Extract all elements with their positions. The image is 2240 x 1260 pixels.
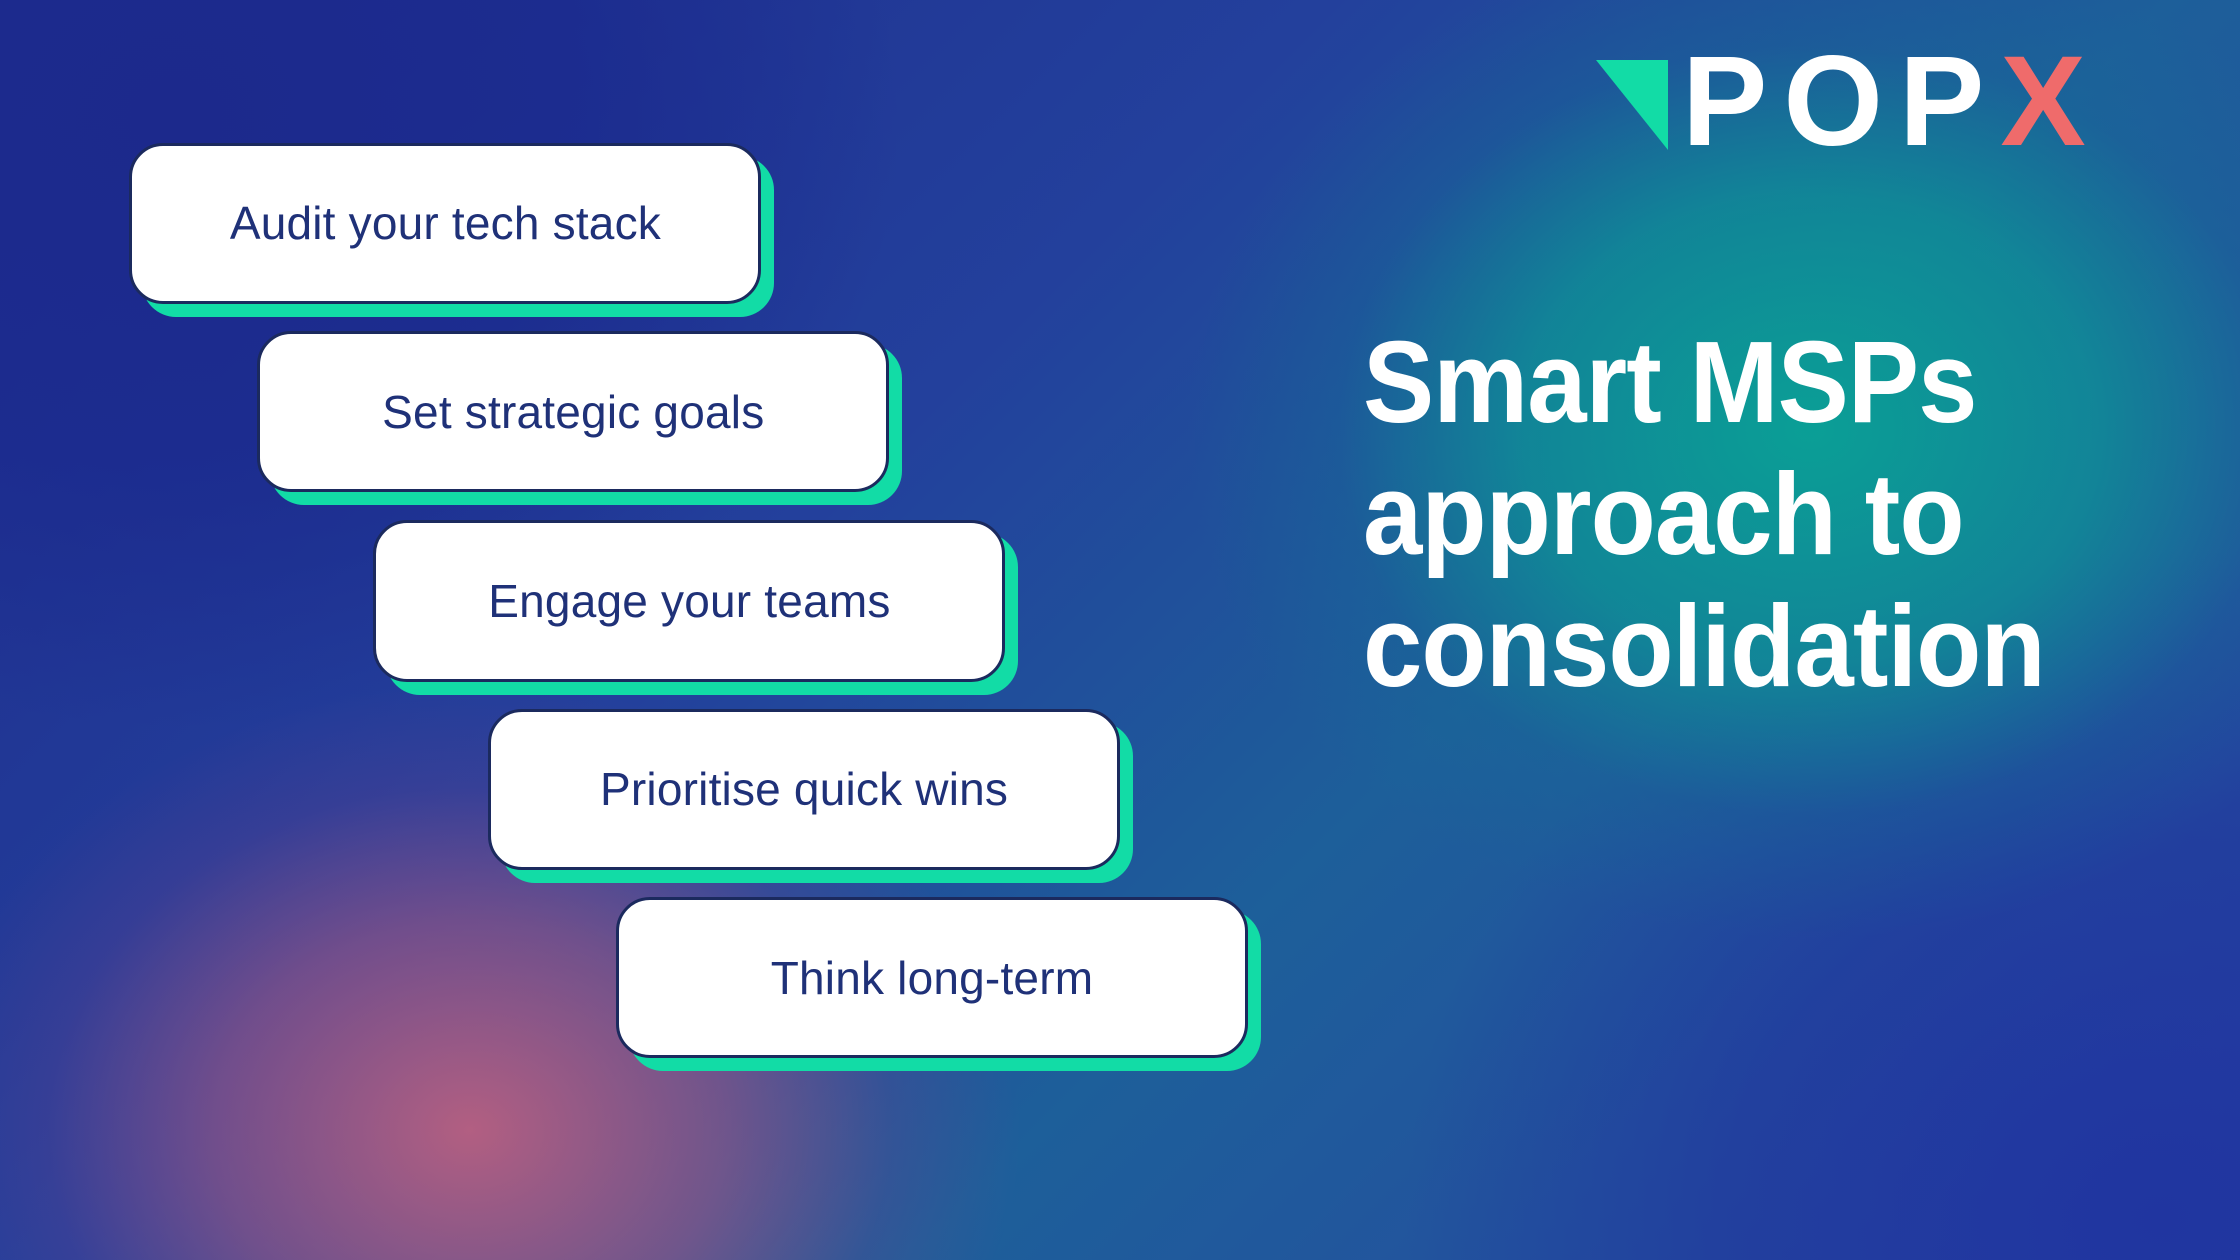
logo-letter-p1: P (1682, 38, 1783, 166)
popx-logo: P O P X (1596, 38, 2102, 166)
headline-line-2: approach to (1363, 448, 2127, 580)
step-card-label: Engage your teams (488, 574, 890, 628)
step-card[interactable]: Think long-term (616, 897, 1248, 1059)
headline-line-3: consolidation (1363, 580, 2127, 712)
step-card-label: Set strategic goals (382, 385, 764, 439)
popx-wordmark: P O P X (1682, 38, 2102, 166)
step-card[interactable]: Audit your tech stack (129, 143, 761, 305)
step-card[interactable]: Engage your teams (373, 520, 1005, 682)
logo-letter-p2: P (1899, 38, 2000, 166)
step-card-label: Prioritise quick wins (600, 762, 1008, 816)
page-title: Smart MSPs approach to consolidation (1363, 316, 2127, 713)
step-card-label: Think long-term (771, 951, 1094, 1005)
step-card[interactable]: Prioritise quick wins (488, 709, 1120, 871)
logo-letter-x: X (2000, 38, 2101, 166)
step-card[interactable]: Set strategic goals (257, 331, 889, 493)
poster-canvas: P O P X Smart MSPs approach to consolida… (0, 0, 2240, 1260)
triangle-mark-icon (1596, 54, 1668, 150)
logo-letter-o: O (1783, 38, 1899, 166)
step-card-label: Audit your tech stack (230, 196, 661, 250)
headline-line-1: Smart MSPs (1363, 316, 2127, 448)
